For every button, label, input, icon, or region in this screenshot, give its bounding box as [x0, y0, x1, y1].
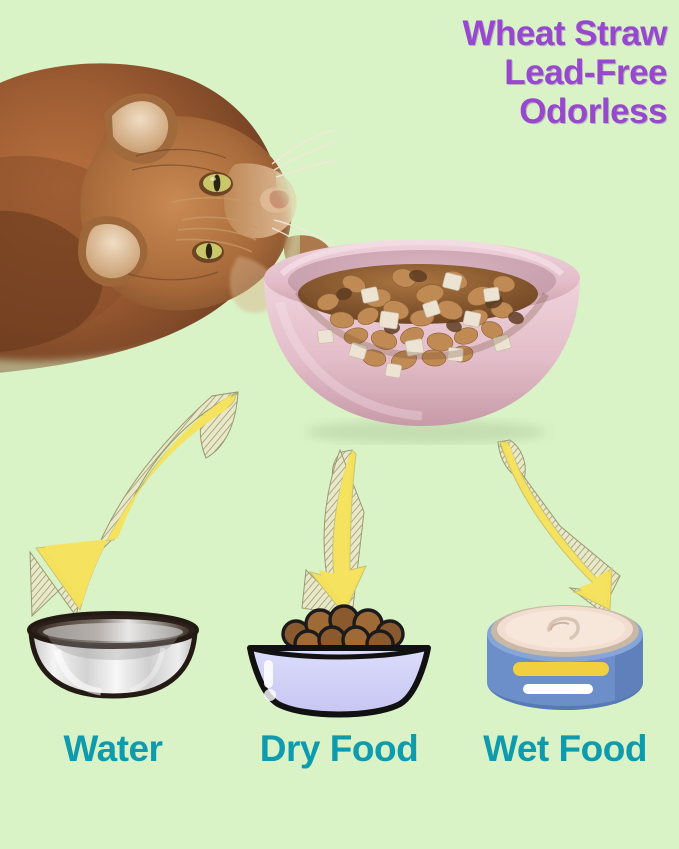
use-case-wet-food[interactable]: Wet Food [452, 600, 678, 830]
kibble-bowl-icon [226, 600, 452, 720]
use-case-label-dry-food: Dry Food [226, 728, 452, 770]
arrow-left-icon [30, 392, 238, 616]
poster-canvas: Wheat Straw Lead-Free Odorless [0, 0, 679, 849]
headline-block: Wheat Straw Lead-Free Odorless [462, 14, 667, 132]
use-cases-row: Water [0, 600, 679, 830]
arrow-right-icon [498, 440, 620, 612]
arrow-group [0, 380, 679, 630]
headline-line-1: Wheat Straw [462, 14, 667, 53]
headline-line-2: Lead-Free [462, 53, 667, 92]
steel-bowl-icon [0, 600, 226, 720]
use-case-water[interactable]: Water [0, 600, 226, 830]
use-case-dry-food[interactable]: Dry Food [226, 600, 452, 830]
use-case-label-wet-food: Wet Food [452, 728, 678, 770]
headline-line-3: Odorless [462, 92, 667, 131]
arrow-center-icon [302, 450, 366, 616]
use-case-label-water: Water [0, 728, 226, 770]
food-can-icon [452, 600, 678, 720]
